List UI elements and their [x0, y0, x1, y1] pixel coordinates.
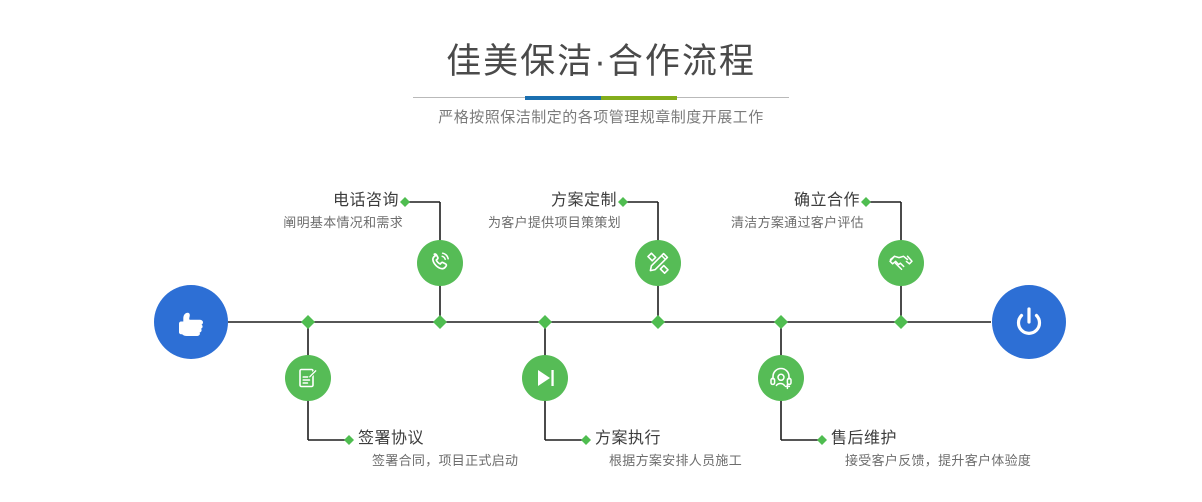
- step-icon-4[interactable]: [522, 355, 568, 401]
- step-desc-3: 为客户提供项目策策划: [380, 212, 621, 234]
- step-icon-6[interactable]: [758, 355, 804, 401]
- pencil-ruler-icon: [645, 250, 671, 276]
- step-desc-6: 接受客户反馈，提升客户体验度: [831, 450, 1031, 472]
- step-label-3: 方案定制 为客户提供项目策策划: [380, 190, 621, 234]
- pointing-hand-icon: [171, 302, 211, 342]
- step-desc-4: 根据方案安排人员施工: [595, 450, 742, 472]
- step-title-1: 电话咨询: [150, 190, 403, 212]
- step-title-4: 方案执行: [595, 428, 742, 450]
- flow-connector-lines: [0, 0, 1202, 502]
- headset-support-icon: [768, 365, 794, 391]
- step-icon-3[interactable]: [635, 240, 681, 286]
- power-icon: [1009, 302, 1049, 342]
- step-desc-1: 阐明基本情况和需求: [150, 212, 403, 234]
- process-flow-diagram: 电话咨询 阐明基本情况和需求 方案定制 为客户提供项目策策划 确立合作 清洁方案…: [0, 0, 1202, 502]
- step-label-2: 签署协议 签署合同，项目正式启动: [358, 428, 518, 472]
- play-next-icon: [532, 365, 558, 391]
- step-title-2: 签署协议: [358, 428, 518, 450]
- step-label-1: 电话咨询 阐明基本情况和需求: [150, 190, 403, 234]
- step-icon-5[interactable]: [878, 240, 924, 286]
- step-desc-2: 签署合同，项目正式启动: [358, 450, 518, 472]
- flow-start-node[interactable]: [154, 285, 228, 359]
- step-title-3: 方案定制: [380, 190, 621, 212]
- step-label-6: 售后维护 接受客户反馈，提升客户体验度: [831, 428, 1031, 472]
- step-label-5: 确立合作 清洁方案通过客户评估: [625, 190, 864, 234]
- flow-end-node[interactable]: [992, 285, 1066, 359]
- step-title-5: 确立合作: [625, 190, 864, 212]
- step-label-4: 方案执行 根据方案安排人员施工: [595, 428, 742, 472]
- step-title-6: 售后维护: [831, 428, 1031, 450]
- handshake-icon: [888, 250, 914, 276]
- step-desc-5: 清洁方案通过客户评估: [625, 212, 864, 234]
- phone-call-icon: [427, 250, 453, 276]
- document-edit-icon: [295, 365, 321, 391]
- cooperation-process-infographic: 佳美保洁·合作流程 严格按照保洁制定的各项管理规章制度开展工作: [0, 0, 1202, 502]
- step-icon-2[interactable]: [285, 355, 331, 401]
- step-icon-1[interactable]: [417, 240, 463, 286]
